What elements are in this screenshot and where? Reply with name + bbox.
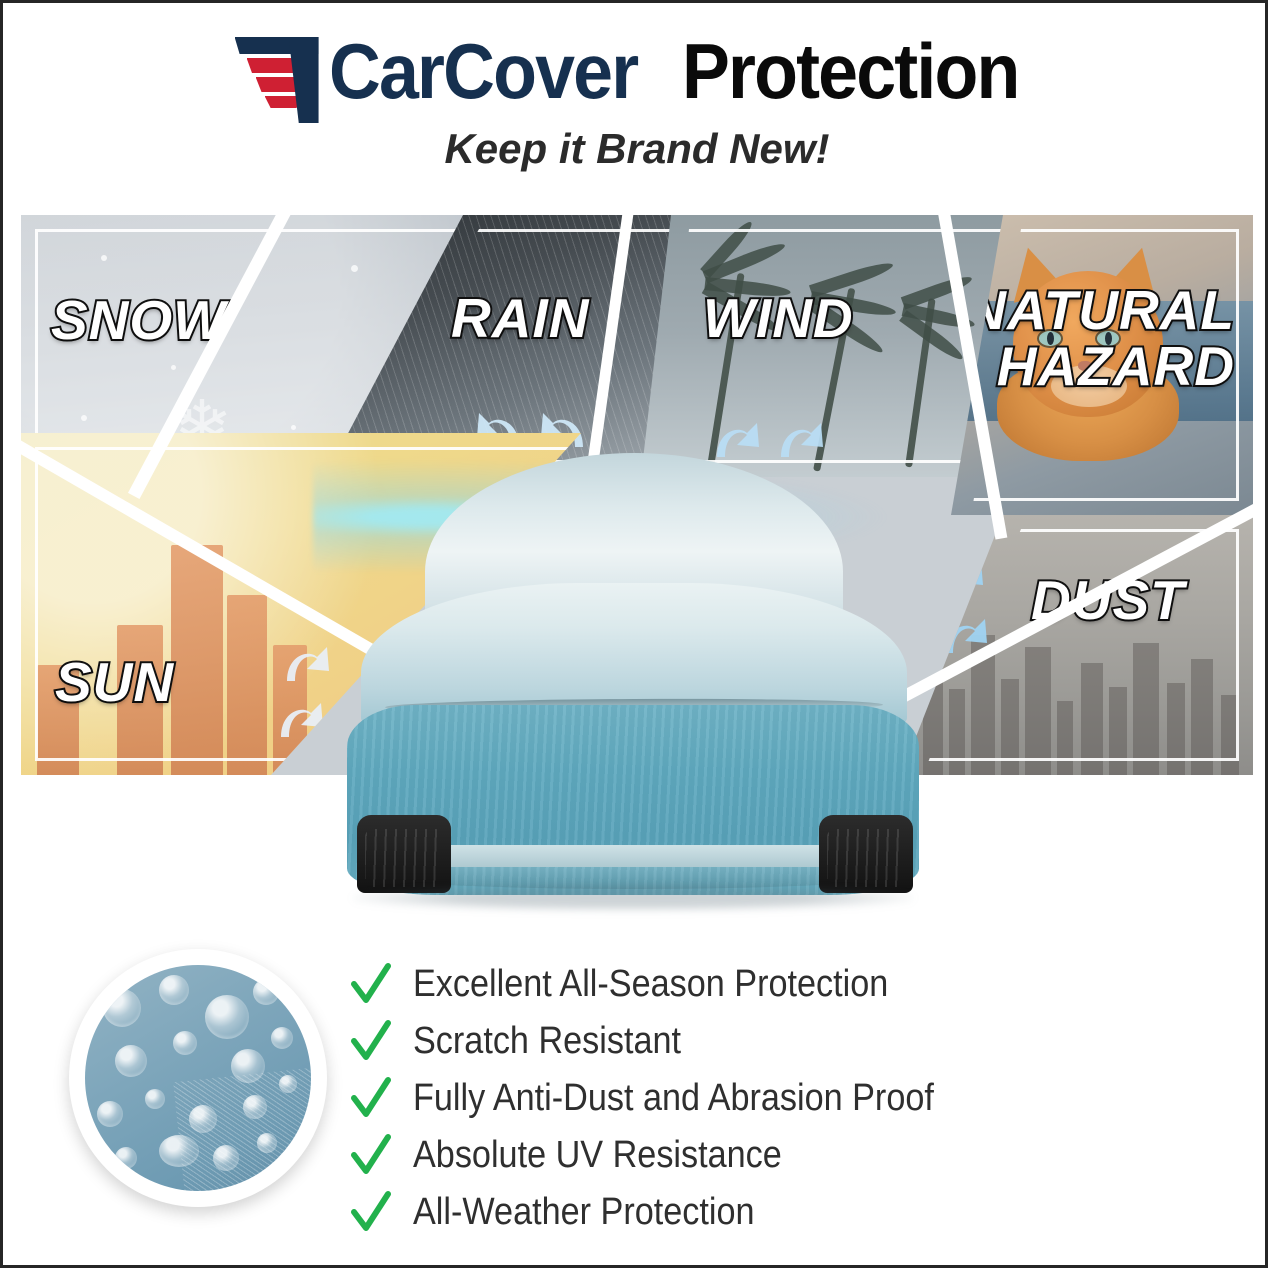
panel-label-hazard-line1: NATURAL <box>966 283 1235 338</box>
carcover-flag-logo-icon <box>227 33 331 109</box>
header: CarCover Protection Keep it Brand New! <box>3 25 1268 173</box>
feature-label: Absolute UV Resistance <box>413 1136 782 1174</box>
green-check-icon <box>351 1133 391 1177</box>
tire <box>357 815 451 893</box>
panel-label-dust: DUST <box>1031 573 1185 628</box>
green-check-icon <box>351 1019 391 1063</box>
tire <box>819 815 913 893</box>
panel-label-wind: WIND <box>703 291 854 346</box>
product-infographic: CarCover Protection Keep it Brand New! ❄… <box>0 0 1268 1268</box>
feature-item: Scratch Resistant <box>351 1012 1171 1069</box>
car-with-cover <box>333 435 933 955</box>
feature-label: Fully Anti-Dust and Abrasion Proof <box>413 1079 934 1117</box>
feature-item: Fully Anti-Dust and Abrasion Proof <box>351 1069 1171 1126</box>
panel-label-rain: RAIN <box>451 291 589 346</box>
panel-label-snow: SNOW <box>51 293 226 348</box>
feature-item: Excellent All-Season Protection <box>351 955 1171 1012</box>
brand-name: CarCover <box>329 32 637 110</box>
panel-label-sun: SUN <box>55 655 174 710</box>
deflection-arrow-icon <box>277 635 331 687</box>
panel-dust: DUST <box>901 515 1253 775</box>
feature-list: Excellent All-Season Protection Scratch … <box>351 955 1171 1240</box>
deflection-arrow-icon <box>271 691 325 743</box>
water-beading-swatch <box>69 949 327 1207</box>
green-check-icon <box>351 962 391 1006</box>
feature-item: Absolute UV Resistance <box>351 1126 1171 1183</box>
green-check-icon <box>351 1076 391 1120</box>
brand-suffix: Protection <box>682 32 1018 110</box>
deflection-arrow-icon <box>935 607 989 659</box>
feature-label: All-Weather Protection <box>413 1193 755 1231</box>
brand-lockup: CarCover Protection <box>3 25 1268 117</box>
panel-natural-hazard: NATURAL HAZARD <box>951 215 1253 515</box>
panel-label-hazard-line2: HAZARD <box>997 339 1235 394</box>
tagline: Keep it Brand New! <box>3 125 1268 173</box>
feature-item: All-Weather Protection <box>351 1183 1171 1240</box>
feature-label: Scratch Resistant <box>413 1022 681 1060</box>
feature-label: Excellent All-Season Protection <box>413 965 888 1003</box>
green-check-icon <box>351 1190 391 1234</box>
